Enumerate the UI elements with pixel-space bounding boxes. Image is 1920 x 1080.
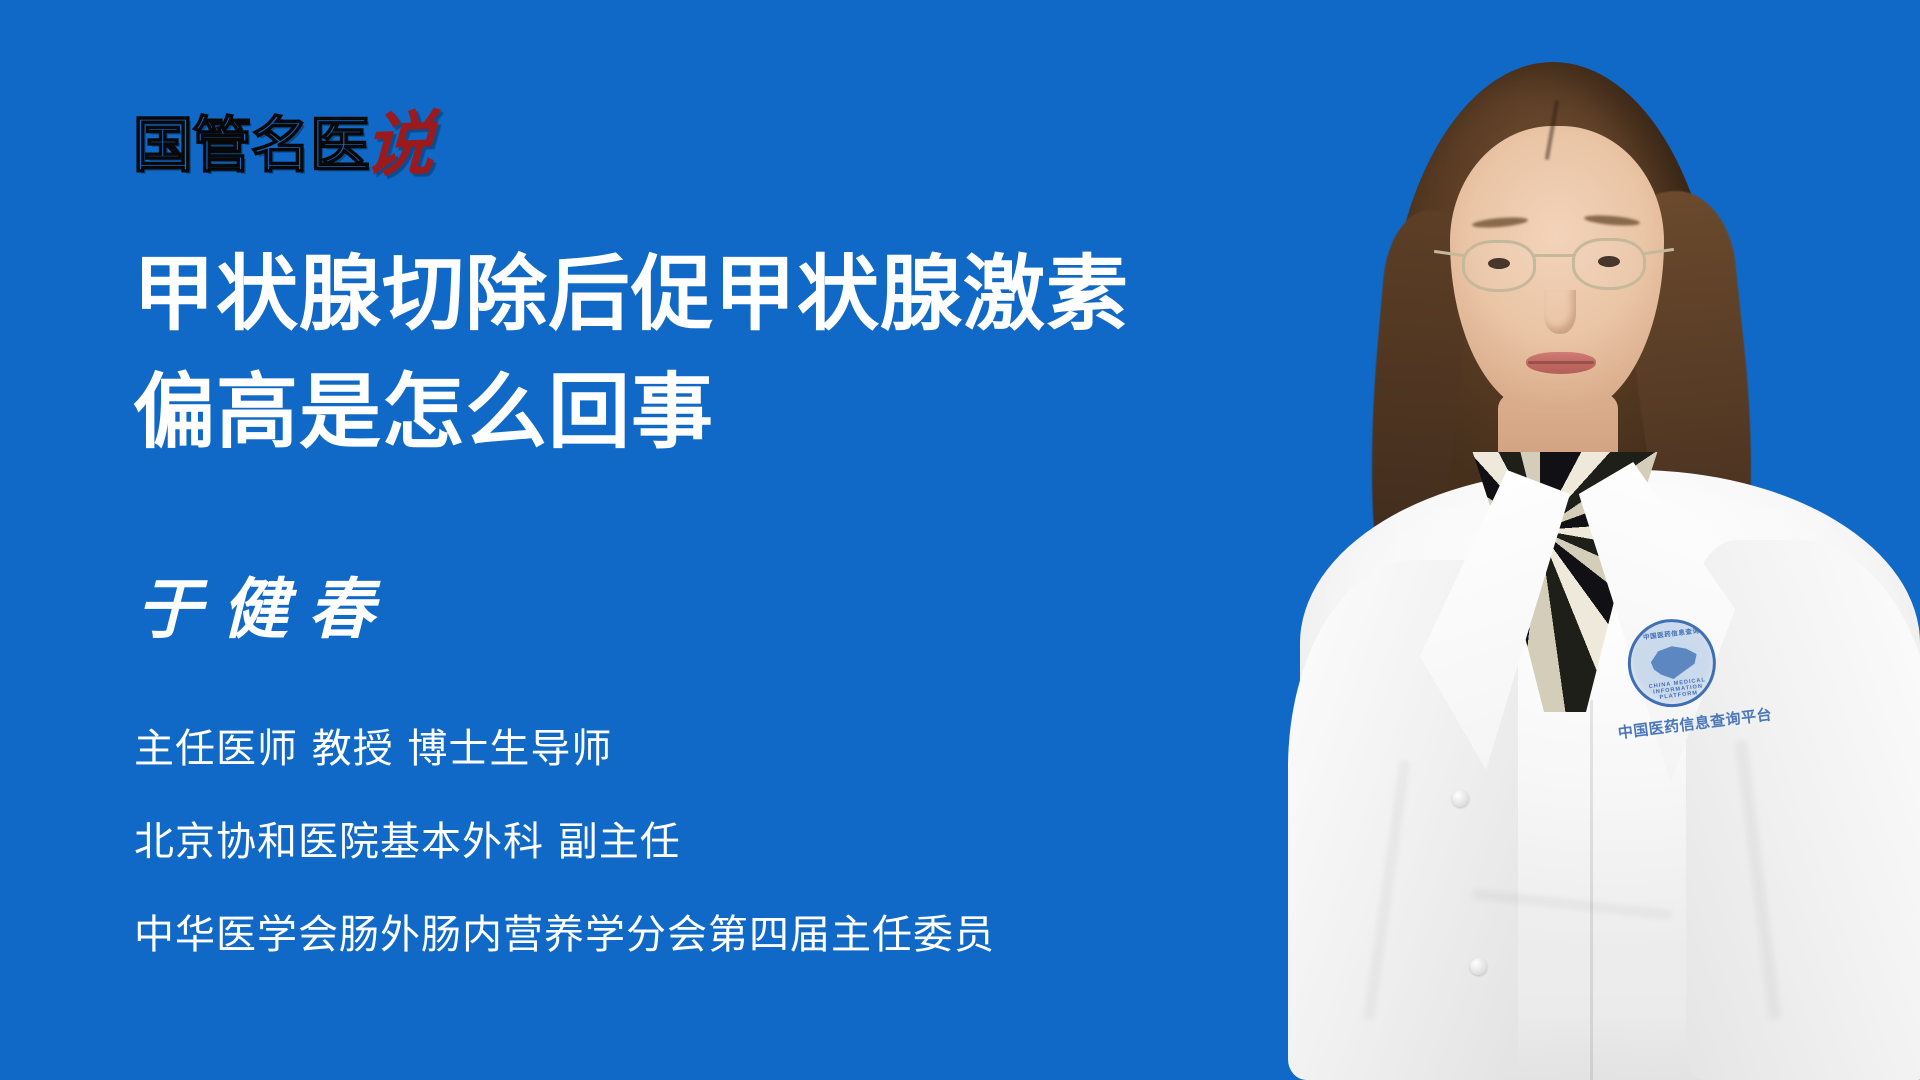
badge-ring-text-bottom: CHINA MEDICAL INFORMATION PLATFORM — [1633, 675, 1721, 704]
program-logo-accent-text: 说 — [363, 112, 435, 178]
doctor-portrait — [1120, 0, 1920, 1080]
credential-line-1: 主任医师 教授 博士生导师 — [134, 703, 1284, 796]
lab-coat-placket — [1590, 700, 1593, 1080]
program-logo-main-text: 国管名医 — [133, 114, 369, 178]
credential-line-3: 中华医学会肠外肠内营养学分会第四届主任委员 — [134, 889, 1284, 982]
eyeglasses-lens-right — [1572, 238, 1646, 290]
lab-coat-button — [1452, 790, 1469, 807]
badge-ring-text-top: 中国医药信息查询 — [1627, 623, 1716, 644]
badge-seal-icon: 中国医药信息查询 CHINA MEDICAL INFORMATION PLATF… — [1623, 614, 1721, 712]
mouth-line — [1528, 361, 1594, 364]
doctor-credentials: 主任医师 教授 博士生导师 北京协和医院基本外科 副主任 中华医学会肠外肠内营养… — [134, 703, 1284, 982]
video-cover-card: 国管名医 说 甲状腺切除后促甲状腺激素 偏高是怎么回事 于健春 主任医师 教授 … — [0, 0, 1920, 1080]
chest-badge: 中国医药信息查询 CHINA MEDICAL INFORMATION PLATF… — [1609, 610, 1755, 749]
lab-coat-button — [1470, 958, 1487, 975]
eyeglasses-bridge — [1534, 254, 1574, 257]
program-logo: 国管名医 说 — [133, 104, 433, 178]
credential-line-2: 北京协和医院基本外科 副主任 — [134, 796, 1284, 889]
nose — [1544, 290, 1576, 334]
doctor-name: 于健春 — [136, 570, 394, 648]
eyeglasses-lens-left — [1462, 240, 1536, 292]
